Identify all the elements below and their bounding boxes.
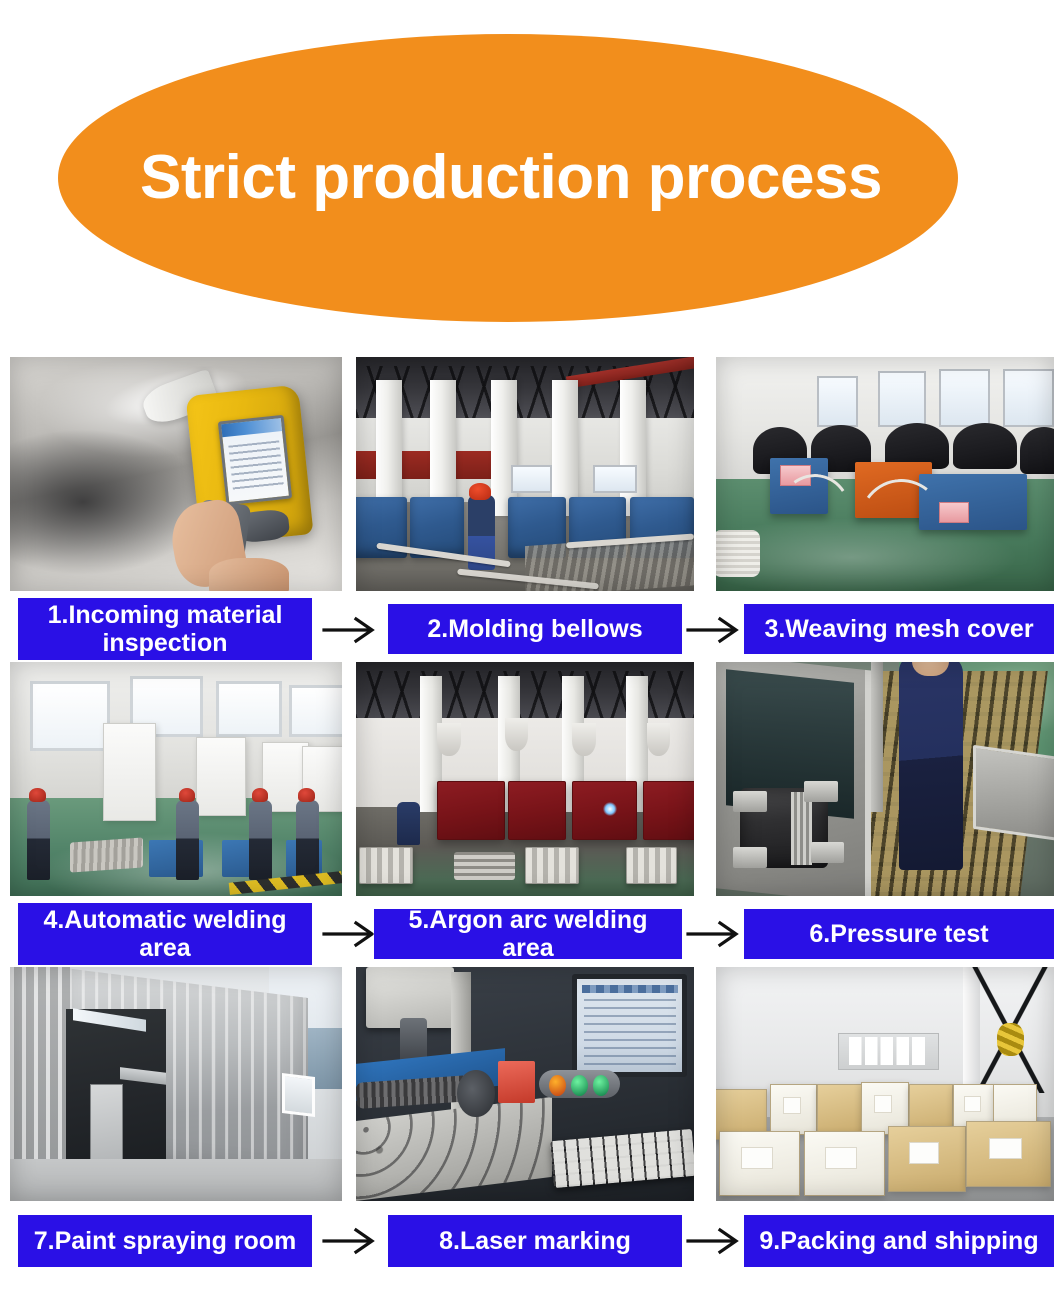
bellows-bundle [454, 852, 515, 880]
production-process-infographic: Strict production process [0, 0, 1060, 1305]
parts-rack [359, 847, 413, 884]
clamp-fixture [811, 842, 845, 863]
emergency-stop-button-icon[interactable] [549, 1075, 566, 1096]
notice-board [838, 1033, 939, 1070]
parts-trolley [70, 837, 143, 873]
hall-column [430, 380, 456, 516]
step-label-8[interactable]: 8.Laser marking [388, 1215, 682, 1267]
clamp-fixture [804, 781, 838, 802]
concrete-ground [10, 1159, 342, 1201]
fume-extractor [572, 723, 596, 756]
computer-monitor [572, 974, 687, 1077]
operator-figure [27, 800, 50, 880]
parts-rack [525, 847, 579, 884]
export-crate [817, 1084, 864, 1135]
stainless-bin [973, 745, 1054, 842]
hall-window [30, 681, 110, 751]
braiding-head [953, 423, 1017, 470]
arrow-right-icon [322, 917, 380, 951]
welding-screen [196, 737, 246, 817]
step-label-9[interactable]: 9.Packing and shipping [744, 1215, 1054, 1267]
arrow-right-icon [686, 613, 744, 647]
welding-booth [643, 781, 694, 840]
hall-window [216, 681, 282, 737]
welding-screen [103, 723, 156, 821]
red-cap-icon [298, 788, 315, 802]
step-label-7[interactable]: 7.Paint spraying room [18, 1215, 312, 1267]
red-cap-icon [252, 788, 269, 802]
hall-column [552, 380, 578, 516]
arrow-right-icon [686, 917, 744, 951]
crate-label [874, 1095, 892, 1113]
crate-label [783, 1097, 801, 1114]
step-label-5[interactable]: 5.Argon arc welding area [374, 909, 682, 959]
export-crate [966, 1121, 1051, 1187]
hall-window [939, 369, 990, 428]
hall-window [289, 685, 342, 736]
step-label-2[interactable]: 2.Molding bellows [388, 604, 682, 654]
welding-booth [508, 781, 565, 840]
crate-label [964, 1096, 981, 1112]
fume-extractor [437, 723, 461, 756]
banner-ellipse: Strict production process [58, 34, 958, 322]
clamp-fixture [733, 791, 767, 812]
red-cap-icon [29, 788, 46, 802]
braiding-head [1020, 427, 1054, 474]
step-label-6[interactable]: 6.Pressure test [744, 909, 1054, 959]
export-crate [770, 1084, 817, 1135]
process-photo-9 [716, 967, 1054, 1201]
hall-window [878, 371, 925, 427]
step-label-4[interactable]: 4.Automatic welding area [18, 903, 312, 965]
hall-window [1003, 369, 1054, 428]
crate-label [909, 1142, 939, 1164]
crate-label [825, 1147, 857, 1169]
hall-window [817, 376, 858, 427]
clamp-fixture [733, 847, 767, 868]
red-helmet-icon [469, 483, 491, 499]
hall-column [620, 380, 646, 516]
operator-figure [249, 800, 272, 880]
hall-window [511, 465, 552, 493]
step-label-1[interactable]: 1.Incoming material inspection [18, 598, 312, 660]
arrow-right-icon [322, 613, 380, 647]
page-title: Strict production process [134, 147, 882, 209]
banner-section: Strict production process [0, 0, 1060, 352]
welder-figure [397, 802, 421, 844]
analyzer-screen [218, 415, 293, 506]
hall-window [593, 465, 637, 493]
operator-figure [296, 800, 319, 880]
process-photo-7 [10, 967, 342, 1201]
hall-column [491, 380, 517, 516]
crate-label [741, 1147, 773, 1169]
red-fixture [498, 1061, 535, 1103]
run-button-icon[interactable] [593, 1075, 610, 1096]
operator-figure [176, 800, 199, 880]
export-crate [804, 1131, 885, 1197]
process-photo-3 [716, 357, 1054, 591]
process-photo-5 [356, 662, 694, 896]
arrow-right-icon [686, 1224, 744, 1258]
crane-hook-icon [997, 1023, 1024, 1056]
red-cap-icon [179, 788, 196, 802]
crate-label [989, 1138, 1022, 1160]
hose-flange [457, 1070, 494, 1117]
process-photo-4 [10, 662, 342, 896]
export-crate [888, 1126, 966, 1192]
fume-extractor [505, 718, 529, 751]
wire-spool [716, 530, 760, 577]
process-photo-8 [356, 967, 694, 1201]
arrow-right-icon [322, 1224, 380, 1258]
welding-booth [437, 781, 505, 840]
parts-rack [626, 847, 677, 884]
process-photo-6 [716, 662, 1054, 896]
exterior-window [282, 1073, 315, 1117]
export-crate [719, 1131, 800, 1197]
step-label-3[interactable]: 3.Weaving mesh cover [744, 604, 1054, 654]
guard-post [871, 662, 882, 812]
operator-hand-lower [209, 558, 289, 591]
process-photo-1 [10, 357, 342, 591]
hall-column [376, 380, 402, 516]
process-photo-2 [356, 357, 694, 591]
fume-extractor [647, 723, 671, 756]
inspector-figure [899, 662, 963, 870]
start-button-icon[interactable] [571, 1075, 588, 1096]
